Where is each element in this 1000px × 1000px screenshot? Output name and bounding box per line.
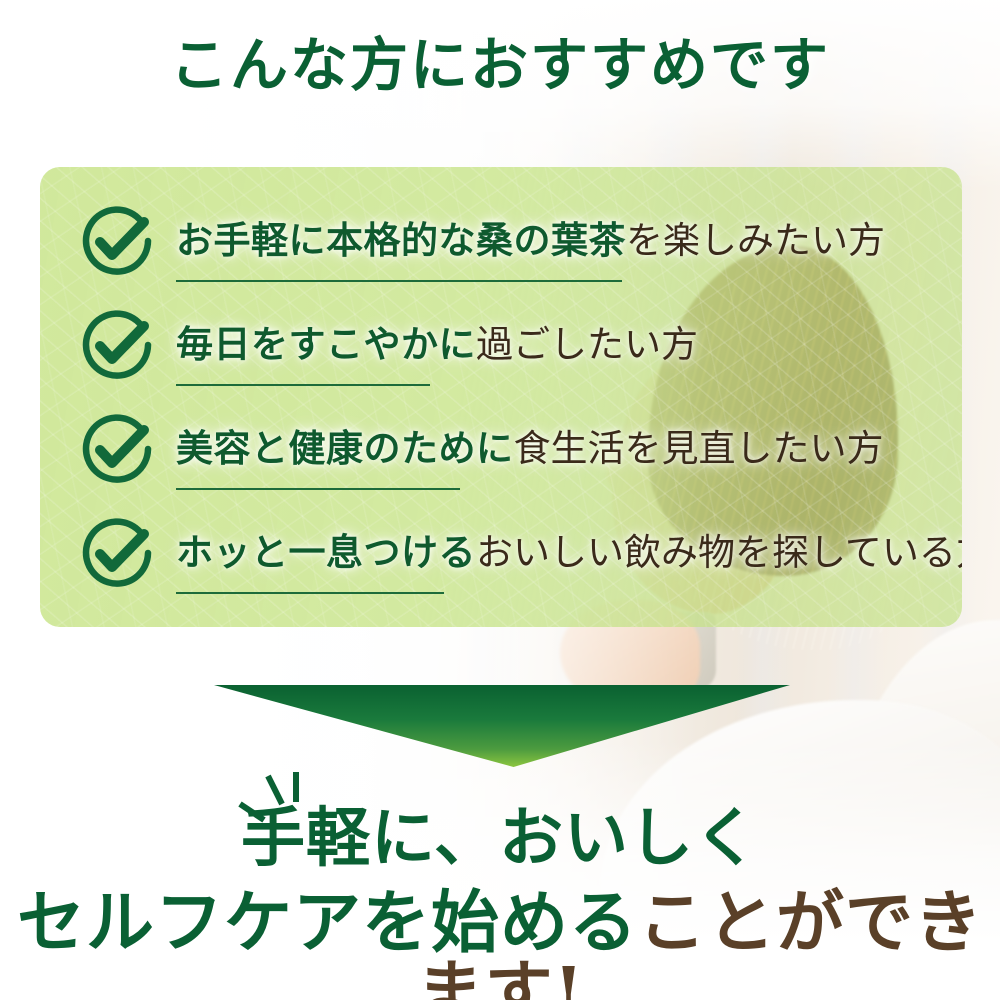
circle-check-icon [78,514,156,592]
list-item-rest: を楽しみたい方 [626,219,885,262]
checklist: お手軽に本格的な桑の葉茶を楽しみたい方 毎日をすこやかに過ごしたい方 [40,167,962,627]
list-item-underline [176,592,444,594]
list-item-underline [176,280,622,282]
list-item-rest: 過ごしたい方 [476,323,698,366]
tagline: 手軽に、おいしく セルフケアを始めることができます! [0,806,1000,1000]
circle-check-icon [78,202,156,280]
list-item: お手軽に本格的な桑の葉茶を楽しみたい方 [40,189,962,293]
list-item-underline [176,488,460,490]
list-item-text: 美容と健康のために食生活を見直したい方 [176,429,884,469]
tagline-line-2: セルフケアを始めることができます! [0,889,1000,1000]
list-item-text: お手軽に本格的な桑の葉茶を楽しみたい方 [176,221,885,261]
list-item-emphasis: 毎日をすこやかに [176,322,476,366]
list-item: 美容と健康のために食生活を見直したい方 [40,397,962,501]
list-item: ホッと一息つけるおいしい飲み物を探している方 [40,501,962,605]
list-item-text: 毎日をすこやかに過ごしたい方 [176,325,698,365]
tagline-line-1: 手軽に、おいしく [0,806,1000,871]
checklist-panel: お手軽に本格的な桑の葉茶を楽しみたい方 毎日をすこやかに過ごしたい方 [40,167,962,627]
list-item: 毎日をすこやかに過ごしたい方 [40,293,962,397]
promo-banner: こんな方におすすめです お手軽に本格的な桑の葉茶を楽しみたい方 [0,0,1000,1000]
tagline-line-1-text: 手軽に、おいしく [241,801,759,876]
list-item-underline [176,384,430,386]
list-item-rest: おいしい飲み物を探している方 [476,531,962,574]
list-item-emphasis: 美容と健康のために [176,426,514,470]
list-item-emphasis: ホッと一息つける [176,530,476,574]
list-item-text: ホッと一息つけるおいしい飲み物を探している方 [176,533,962,573]
page-title: こんな方におすすめです [0,32,1000,99]
tagline-line-2-green: セルフケアを始める [17,883,638,963]
list-item-emphasis: お手軽に本格的な桑の葉茶 [176,218,626,262]
list-item-rest: 食生活を見直したい方 [514,427,884,470]
circle-check-icon [78,306,156,384]
circle-check-icon [78,410,156,488]
